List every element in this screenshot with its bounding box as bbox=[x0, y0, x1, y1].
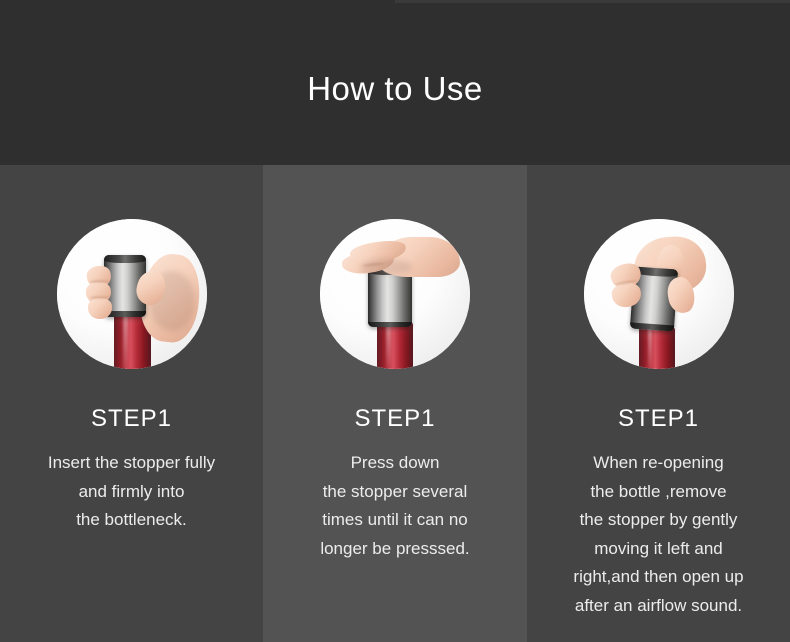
step-3-image bbox=[584, 219, 734, 369]
step-card-2: STEP1 Press down the stopper several tim… bbox=[263, 165, 527, 642]
step-card-3: STEP1 When re-opening the bottle ,remove… bbox=[527, 165, 790, 642]
bottle-neck-2 bbox=[377, 322, 413, 369]
page-header: How to Use bbox=[0, 0, 790, 165]
step-1-title: STEP1 bbox=[91, 405, 172, 433]
bottle-neck-3 bbox=[639, 327, 675, 369]
stopper-cap-1 bbox=[104, 255, 146, 263]
stopper-base-ring-2 bbox=[368, 322, 412, 327]
finger-crease-1a bbox=[90, 280, 110, 283]
how-to-use-page: How to Use bbox=[0, 0, 790, 642]
finger-crease-1b bbox=[90, 296, 110, 299]
hand-shadow-2 bbox=[360, 259, 412, 275]
step-card-1: STEP1 Insert the stopper fully and firml… bbox=[0, 165, 263, 642]
steps-row: STEP1 Insert the stopper fully and firml… bbox=[0, 165, 790, 642]
step-2-body: Press down the stopper several times unt… bbox=[312, 449, 477, 563]
step-3-body: When re-opening the bottle ,remove the s… bbox=[570, 449, 746, 620]
header-top-strip bbox=[395, 0, 790, 3]
step-2-image bbox=[320, 219, 470, 369]
finger-1c bbox=[87, 298, 112, 320]
step-2-title: STEP1 bbox=[354, 405, 435, 433]
step-3-title: STEP1 bbox=[618, 405, 699, 433]
page-title: How to Use bbox=[0, 69, 790, 109]
step-1-body: Insert the stopper fully and firmly into… bbox=[40, 449, 223, 535]
step-1-image bbox=[57, 219, 207, 369]
